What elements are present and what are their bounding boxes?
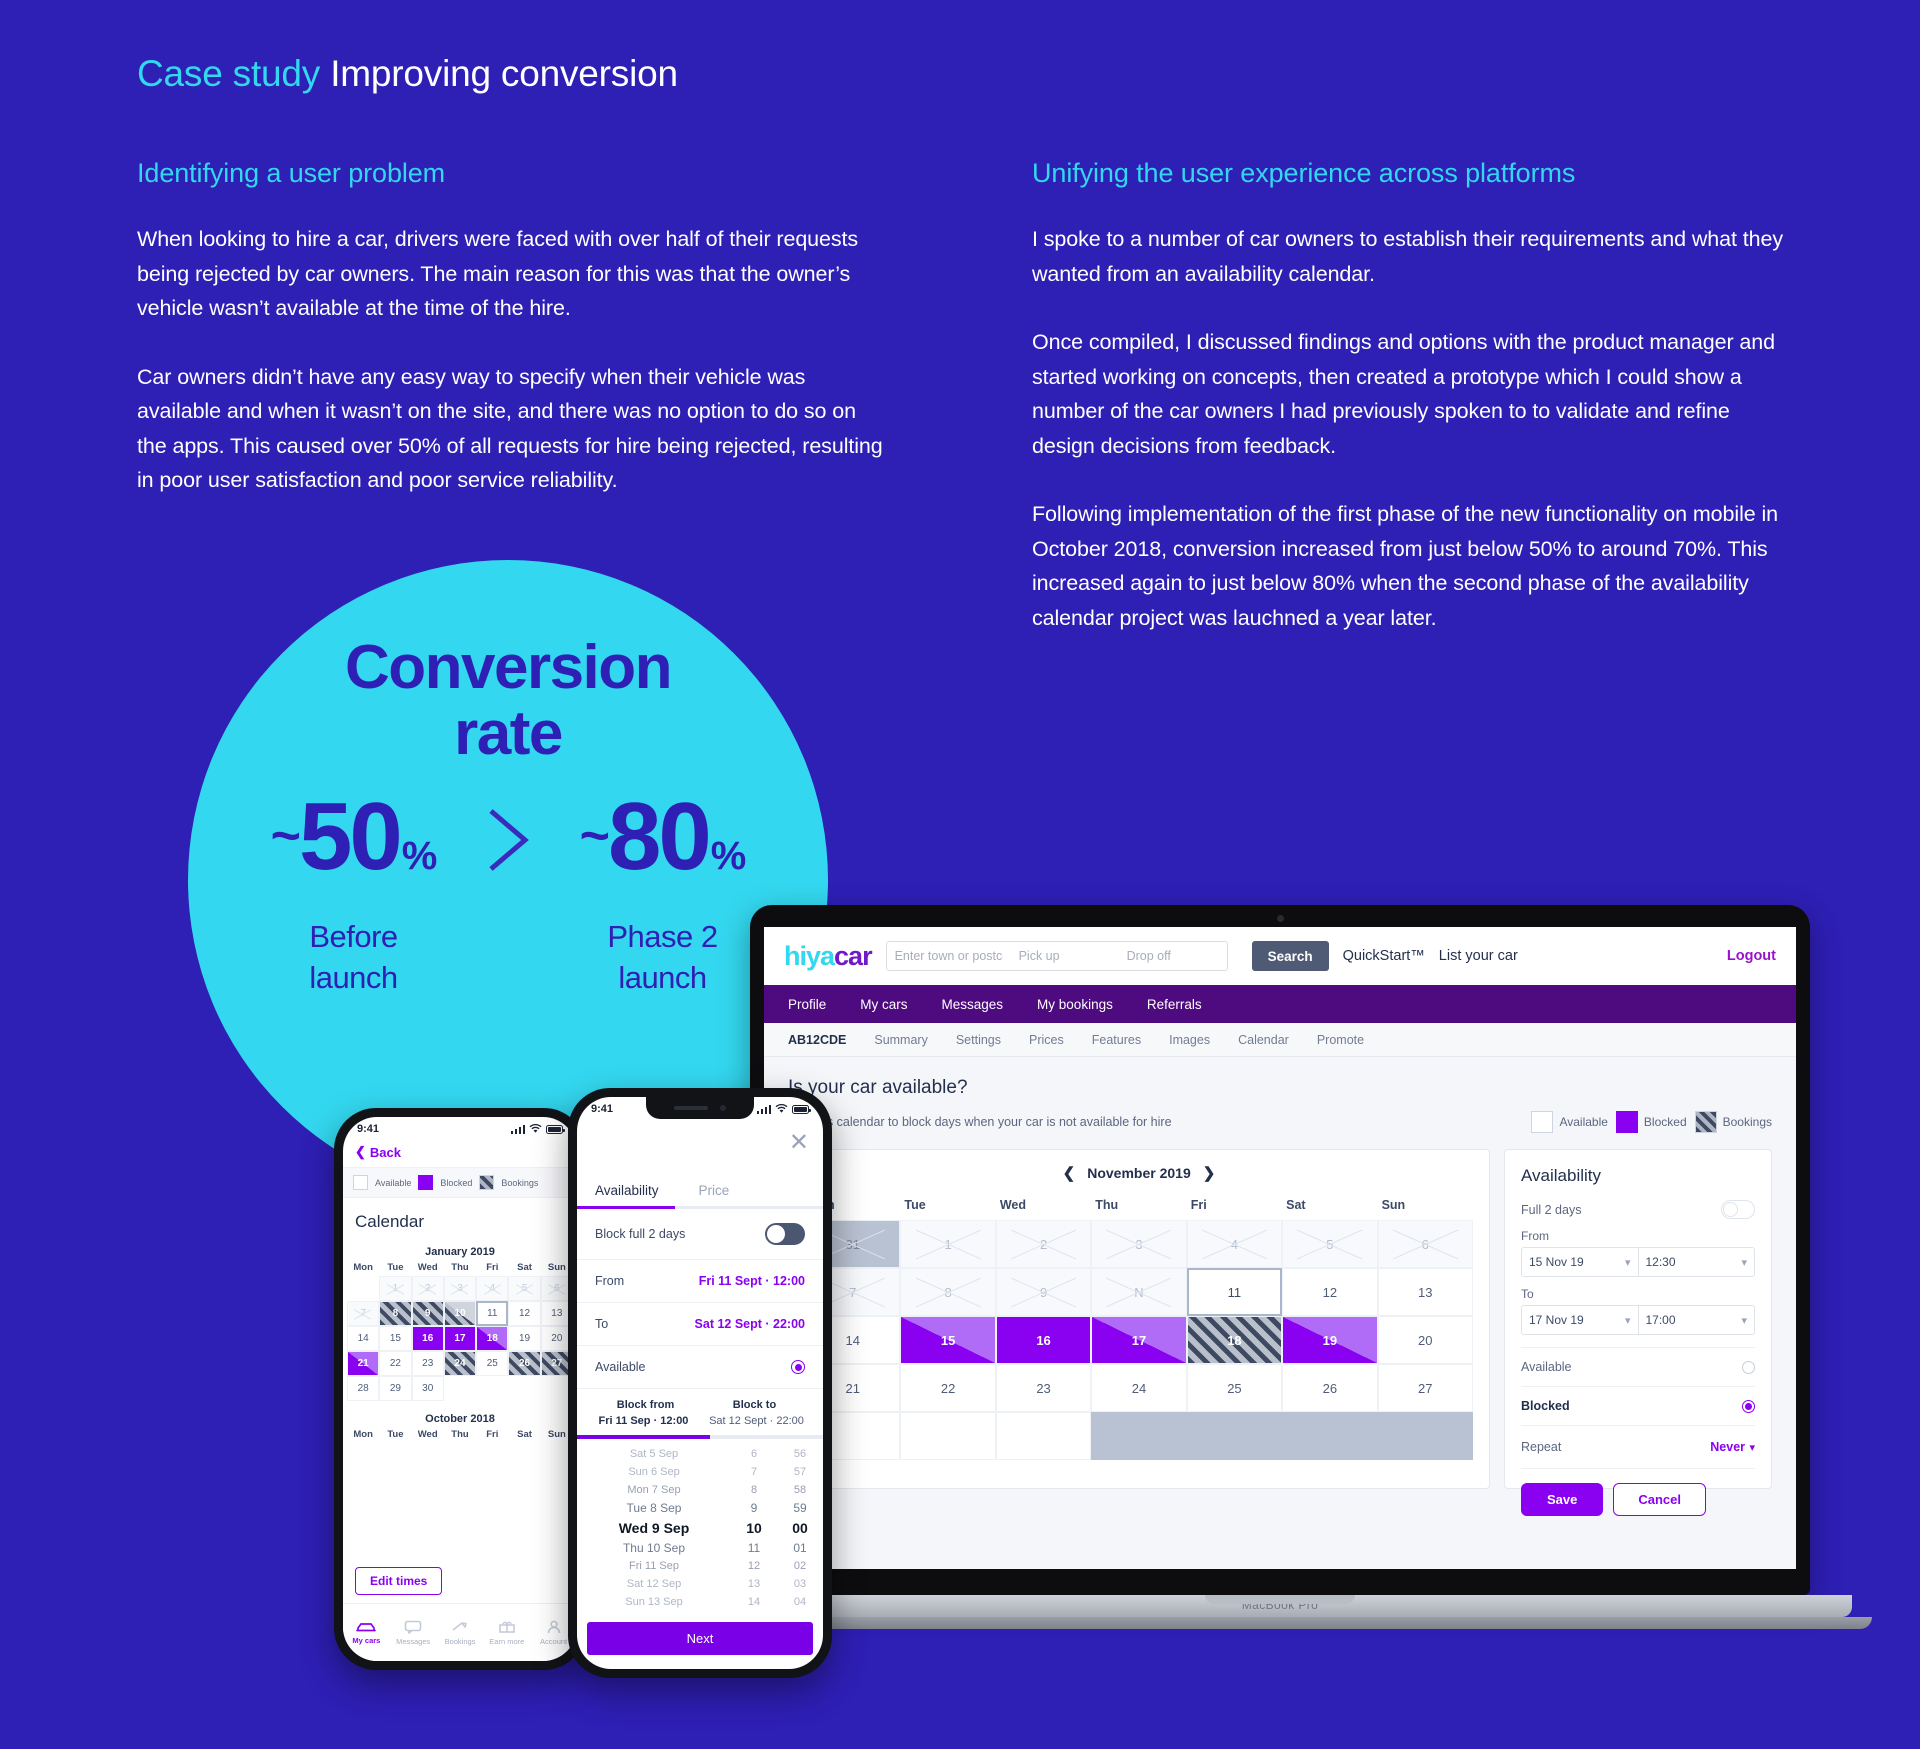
picker-hour-item[interactable]: 7 [731,1463,777,1481]
full-days-label: Full 2 days [1521,1203,1581,1217]
blocked-option-label: Blocked [1521,1399,1570,1413]
calendar-day-cell[interactable]: 5 [1282,1220,1377,1268]
picker-hour-item[interactable]: 6 [731,1445,777,1463]
legend-available-label: Available [375,1178,411,1188]
close-icon[interactable]: ✕ [789,1131,809,1155]
battery-icon [792,1105,809,1114]
stat-after-number: ~80% [580,789,746,904]
legend-bookings-swatch [1695,1111,1717,1133]
picker-minute-item[interactable]: 02 [777,1557,823,1575]
nav-item-referrals[interactable]: Referrals [1147,997,1202,1012]
phone-month-label: January 2019 [343,1240,577,1262]
car-registration: AB12CDE [788,1033,846,1047]
calendar-day-cell[interactable] [1187,1412,1282,1460]
stat-before-percent: % [402,808,437,904]
search-pickup-input[interactable] [1011,942,1119,970]
available-row[interactable]: Available [577,1346,823,1389]
chevron-right-icon[interactable]: ❯ [1203,1164,1216,1182]
block-full-days-row: Block full 2 days [577,1209,823,1260]
right-paragraph-3: Following implementation of the first ph… [1032,497,1792,635]
dow2-tue: Tue [379,1429,411,1440]
repeat-value-group[interactable]: Never ▾ [1710,1438,1755,1456]
picker-minute-item[interactable]: 04 [777,1593,823,1611]
picker-date-item[interactable]: Thu 10 Sep [577,1539,731,1557]
stat-after-label-line2: launch [607,957,717,998]
sheet-tabs: Availability Price [577,1121,823,1206]
available-radio[interactable] [791,1360,805,1374]
page-title-eyebrow: Case study [137,53,320,94]
chevron-down-icon: ▾ [1741,1256,1747,1269]
stat-before-value: 50 [299,789,400,885]
available-option-label: Available [1521,1360,1572,1374]
phone-page-title: Calendar [343,1198,577,1240]
status-bar: 9:41 [577,1097,823,1121]
progress-arrow [471,789,545,875]
macbook-screen: hiyacar Search QuickStart™ List your car… [764,927,1796,1569]
from-selects: 15 Nov 19 ▾ 12:30 ▾ [1521,1247,1755,1277]
calendar-day-cell[interactable]: 4 [1187,1220,1282,1268]
page-heading: Is your car available? [788,1077,1772,1099]
hiyacar-topbar: hiyacar Search QuickStart™ List your car… [764,927,1796,985]
phone-calendar-day-cell[interactable]: 2 [412,1276,444,1301]
picker-minute-item[interactable]: 56 [777,1445,823,1463]
dow2-wed: Wed [412,1429,444,1440]
phone-calendar-day-cell[interactable]: 29 [379,1376,411,1401]
phone-calendar-day-cell[interactable]: 19 [508,1326,540,1351]
picker-minute-column[interactable]: 565758590001020304 [777,1445,823,1611]
conversion-rate-title: Conversion rate [345,635,671,767]
to-selects: 17 Nov 19 ▾ 17:00 ▾ [1521,1305,1755,1335]
calendar-header: ❮ November 2019 ❯ [805,1164,1473,1182]
full-days-row: Full 2 days [1521,1200,1755,1219]
repeat-row[interactable]: Repeat Never ▾ [1521,1438,1755,1456]
block-range-header: Block from Block to [577,1389,823,1415]
nav-item-messages[interactable]: Messages [942,997,1004,1012]
picker-hour-item[interactable]: 8 [731,1481,777,1499]
calendar-panels: ❮ November 2019 ❯ Mon Tue Wed Thu Fri Sa… [788,1149,1772,1489]
right-column-heading: Unifying the user experience across plat… [1032,158,1575,189]
phone-calendar-day-cell[interactable]: 16 [412,1326,444,1351]
stat-before-label: Before launch [309,916,397,998]
calendar-day-cell[interactable]: 3 [1091,1220,1186,1268]
tab-messages[interactable]: Messages [390,1604,437,1661]
blocked-option-row[interactable]: Blocked [1521,1399,1755,1413]
divider [1521,1425,1755,1426]
picker-date-item[interactable]: Sun 6 Sep [577,1463,731,1481]
phone-month2-label: October 2018 [343,1407,577,1429]
save-button[interactable]: Save [1521,1483,1603,1516]
block-range-values: Fri 11 Sep · 12:00 Sat 12 Sept · 22:00 [577,1415,823,1435]
repeat-value: Never [1710,1440,1745,1454]
calendar-day-cell[interactable]: 9 [996,1268,1091,1316]
phone-screen: 9:41 ❮ Back [343,1117,577,1661]
toggle-knob [767,1225,785,1243]
tab-my-cars-label: My cars [352,1636,380,1645]
battery-icon [546,1125,563,1134]
chevron-down-icon: ▾ [1749,1442,1755,1454]
dow2-sat: Sat [508,1429,540,1440]
block-full-days-label: Block full 2 days [595,1227,685,1241]
picker-hour-column[interactable]: 67891011121314 [731,1445,777,1611]
phone-tab-bar: My cars Messages Bookings [343,1603,577,1661]
right-column-body: I spoke to a number of car owners to est… [1032,222,1792,635]
tab-price[interactable]: Price [699,1183,730,1206]
from-date-select[interactable]: 15 Nov 19 ▾ [1522,1248,1638,1276]
calendar-weekday-row: Mon Tue Wed Thu Fri Sat Sun [805,1198,1473,1212]
stat-before-tilde: ~ [271,788,298,884]
dow-thu: Thu [444,1262,476,1273]
calendar-day-cell[interactable]: 26 [1282,1364,1377,1412]
case-study-page: Case study Improving conversion Identify… [0,0,1920,1749]
nav-link-quickstart[interactable]: QuickStart™ [1343,948,1425,964]
legend-available-swatch [1531,1111,1553,1133]
phone-calendar-day-cell[interactable]: 18 [476,1326,508,1351]
availability-panel: Availability Full 2 days From 15 Nov 19 … [1504,1149,1772,1489]
subnav-features[interactable]: Features [1092,1033,1141,1047]
subnav-images[interactable]: Images [1169,1033,1210,1047]
subheading-row: Use this calendar to block days when you… [788,1111,1772,1133]
dow-wed: Wed [996,1198,1091,1212]
picker-minute-item[interactable]: 58 [777,1481,823,1499]
macbook-mockup: hiyacar Search QuickStart™ List your car… [750,905,1810,1650]
search-town-input[interactable] [887,942,1011,970]
picker-minute-item[interactable]: 00 [777,1517,823,1539]
calendar-day-cell[interactable]: 2 [996,1220,1091,1268]
calendar-day-cell[interactable]: 27 [1378,1364,1473,1412]
legend-blocked-label: Blocked [440,1178,472,1188]
calendar-day-cell[interactable]: 18 [1187,1316,1282,1364]
legend-bookings: Bookings [1695,1111,1772,1133]
status-icons [511,1124,563,1134]
primary-nav: Profile My cars Messages My bookings Ref… [764,985,1796,1023]
status-time: 9:41 [591,1103,613,1115]
picker-date-item[interactable]: Sun 13 Sep [577,1593,731,1611]
legend-blocked: Blocked [1616,1111,1687,1133]
phone-calendar-day-cell[interactable]: 8 [379,1301,411,1326]
calendar-day-cell[interactable] [1091,1412,1186,1460]
phone-calendar-day-cell[interactable]: 17 [444,1326,476,1351]
chevron-right-icon [481,805,535,875]
block-full-days-toggle[interactable] [765,1223,805,1245]
phone-calendar-day-cell[interactable]: 12 [508,1301,540,1326]
dow2-thu: Thu [444,1429,476,1440]
phone-calendar-day-cell[interactable]: 1 [379,1276,411,1301]
car-icon [355,1621,377,1633]
tab-account-label: Account [540,1637,567,1646]
stat-before: ~50% Before launch [236,789,471,998]
phone-weekday-row: Mon Tue Wed Thu Fri Sat Sun [343,1262,577,1273]
from-label: From [1521,1229,1755,1243]
edit-times-button[interactable]: Edit times [355,1567,442,1595]
back-label: Back [370,1145,401,1160]
calendar-day-cell[interactable]: 8 [900,1268,995,1316]
block-from-label: Block from [591,1399,700,1411]
back-button[interactable]: ❮ Back [343,1141,577,1167]
picker-hour-item[interactable]: 9 [731,1499,777,1517]
legend-bookings-swatch [479,1175,494,1190]
phone-calendar-day-cell[interactable]: 25 [476,1351,508,1376]
divider [1521,1386,1755,1387]
next-button[interactable]: Next [587,1622,813,1655]
tab-earn-more-label: Earn more [489,1637,524,1646]
stat-before-label-line1: Before [309,916,397,957]
calendar-day-cell[interactable]: 23 [996,1364,1091,1412]
chevron-left-icon: ❮ [355,1144,366,1160]
phone-calendar-day-cell[interactable]: 4 [476,1276,508,1301]
legend-available-label: Available [1559,1115,1607,1129]
subnav-calendar[interactable]: Calendar [1238,1033,1289,1047]
dow-mon: Mon [347,1262,379,1273]
calendar-day-cell[interactable] [1378,1412,1473,1460]
picker-date-item[interactable]: Mon 7 Sep [577,1481,731,1499]
macbook-notch [1205,1595,1355,1604]
calendar-legend: Available Blocked Bookings [1531,1111,1772,1133]
picker-hour-item[interactable]: 12 [731,1557,777,1575]
to-label: To [1521,1287,1755,1301]
stat-after: ~80% Phase 2 launch [545,789,780,998]
from-time-value: 12:30 [1646,1255,1676,1269]
phone-calendar-legend: Available Blocked Bookings [343,1167,577,1198]
from-label: From [595,1274,624,1288]
right-paragraph-1: I spoke to a number of car owners to est… [1032,222,1792,291]
phone-shell: 9:41 ✕ Availability Price [568,1088,832,1678]
dow2-mon: Mon [347,1429,379,1440]
block-to-value: Sat 12 Sept · 22:00 [700,1415,813,1427]
phone-calendar-day-cell[interactable]: 24 [444,1351,476,1376]
left-column-body: When looking to hire a car, drivers were… [137,222,885,498]
conversion-title-line1: Conversion [345,635,671,701]
tab-earn-more[interactable]: Earn more [483,1604,530,1661]
block-to-label: Block to [700,1399,809,1411]
to-time-select[interactable]: 17:00 ▾ [1638,1306,1755,1334]
divider [1521,1468,1755,1469]
block-from-value: Fri 11 Sep · 12:00 [587,1415,700,1427]
dow2-fri: Fri [476,1429,508,1440]
phone-calendar-day-cell[interactable] [476,1376,508,1401]
nav-item-profile[interactable]: Profile [788,997,826,1012]
calendar-day-cell[interactable]: 11 [1187,1268,1282,1316]
picker-hour-item[interactable]: 11 [731,1539,777,1557]
status-bar: 9:41 [343,1117,577,1141]
subnav-promote[interactable]: Promote [1317,1033,1364,1047]
calendar-day-cell[interactable] [900,1412,995,1460]
datetime-picker[interactable]: Sat 5 SepSun 6 SepMon 7 SepTue 8 SepWed … [577,1439,823,1611]
dow-sun: Sun [1378,1198,1473,1212]
to-date-value: 17 Nov 19 [1529,1313,1584,1327]
phone-calendar-day-cell[interactable] [347,1276,379,1301]
phone-calendar-day-cell[interactable]: 9 [412,1301,444,1326]
legend-available: Available [1531,1111,1607,1133]
wifi-icon [775,1104,788,1114]
search-button[interactable]: Search [1252,941,1329,971]
logo-hiya: hiya [784,941,834,971]
key-icon [451,1620,469,1634]
legend-blocked-swatch [1616,1111,1638,1133]
calendar-day-cell[interactable]: 22 [900,1364,995,1412]
availability-actions: Save Cancel [1521,1483,1755,1516]
to-value: Sat 12 Sept · 22:00 [695,1317,805,1331]
to-label: To [595,1317,608,1331]
legend-available-swatch [353,1175,368,1190]
picker-hour-item[interactable]: 13 [731,1575,777,1593]
search-group[interactable] [886,941,1228,971]
calendar-day-cell[interactable]: 19 [1282,1316,1377,1364]
stat-after-label: Phase 2 launch [607,916,717,998]
logout-link[interactable]: Logout [1727,948,1776,964]
calendar-day-cell[interactable]: 24 [1091,1364,1186,1412]
nav-item-my-bookings[interactable]: My bookings [1037,997,1113,1012]
macbook-foot [688,1617,1872,1629]
from-time-select[interactable]: 12:30 ▾ [1638,1248,1755,1276]
calendar-page-body: Is your car available? Use this calendar… [764,1057,1796,1569]
phone-mockup-calendar: 9:41 ❮ Back [334,1108,586,1670]
phone-calendar-day-cell[interactable]: 30 [412,1376,444,1401]
to-row[interactable]: To Sat 12 Sept · 22:00 [577,1303,823,1346]
logo-car: car [834,941,872,971]
available-radio[interactable] [1742,1361,1755,1374]
stat-after-tilde: ~ [580,788,607,884]
calendar-day-cell[interactable]: 17 [1091,1316,1186,1364]
phone-calendar-day-cell[interactable]: 28 [347,1376,379,1401]
from-date-value: 15 Nov 19 [1529,1255,1584,1269]
picker-date-item[interactable]: Fri 11 Sep [577,1557,731,1575]
left-column-heading: Identifying a user problem [137,158,445,189]
calendar-day-cell[interactable] [1282,1412,1377,1460]
conversion-stats: ~50% Before launch ~80% Phase 2 launch [188,789,828,998]
picker-hour-item[interactable]: 10 [731,1517,777,1539]
phone-calendar-day-cell[interactable]: 5 [508,1276,540,1301]
nav-link-list-your-car[interactable]: List your car [1439,948,1518,964]
phone-calendar-day-cell[interactable]: 7 [347,1301,379,1326]
right-paragraph-2: Once compiled, I discussed findings and … [1032,325,1792,463]
wifi-icon [529,1124,542,1134]
from-row[interactable]: From Fri 11 Sept · 12:00 [577,1260,823,1303]
chevron-down-icon: ▾ [1625,1314,1631,1327]
dow-tue: Tue [900,1198,995,1212]
stat-before-label-line2: launch [309,957,397,998]
stat-after-percent: % [711,808,746,904]
phone-calendar-day-cell[interactable] [444,1376,476,1401]
tab-bookings[interactable]: Bookings [437,1604,484,1661]
dow-sat: Sat [1282,1198,1377,1212]
cancel-button[interactable]: Cancel [1613,1483,1706,1516]
status-icons [757,1104,809,1114]
dow-fri: Fri [1187,1198,1282,1212]
calendar-day-cell[interactable]: 13 [1378,1268,1473,1316]
phone-calendar-day-cell[interactable]: 26 [508,1351,540,1376]
phone-calendar-day-cell[interactable]: 3 [444,1276,476,1301]
calendar-day-cell[interactable]: 16 [996,1316,1091,1364]
calendar-day-cell[interactable]: 12 [1282,1268,1377,1316]
webcam-icon [1277,915,1284,922]
picker-date-column[interactable]: Sat 5 SepSun 6 SepMon 7 SepTue 8 SepWed … [577,1445,731,1611]
chevron-left-icon[interactable]: ❮ [1063,1164,1076,1182]
repeat-label: Repeat [1521,1440,1561,1454]
calendar-day-cell[interactable]: 20 [1378,1316,1473,1364]
stat-before-number: ~50% [271,789,437,904]
availability-title: Availability [1521,1166,1755,1186]
calendar-day-cell[interactable]: N [1091,1268,1186,1316]
subnav-summary[interactable]: Summary [874,1033,927,1047]
tab-bookings-label: Bookings [445,1637,476,1646]
legend-bookings-label: Bookings [501,1178,538,1188]
chat-icon [404,1620,422,1634]
from-value: Fri 11 Sept · 12:00 [699,1274,805,1288]
picker-date-item[interactable]: Sat 12 Sep [577,1575,731,1593]
available-option-row[interactable]: Available [1521,1360,1755,1374]
tab-availability[interactable]: Availability [595,1183,659,1206]
dow-tue: Tue [379,1262,411,1273]
left-paragraph-2: Car owners didn’t have any easy way to s… [137,360,885,498]
legend-bookings-label: Bookings [1723,1115,1772,1129]
picker-date-item[interactable]: Wed 9 Sep [577,1517,731,1539]
phone-calendar-day-cell[interactable]: 23 [412,1351,444,1376]
dow-wed: Wed [412,1262,444,1273]
phone-calendar-day-cell[interactable]: 22 [379,1351,411,1376]
chevron-down-icon: ▾ [1625,1256,1631,1269]
picker-minute-item[interactable]: 01 [777,1539,823,1557]
phone-calendar-day-cell[interactable]: 11 [476,1301,508,1326]
calendar-day-cell[interactable]: 15 [900,1316,995,1364]
signal-icon [511,1125,525,1134]
calendar-day-cell[interactable]: 6 [1378,1220,1473,1268]
signal-icon [757,1105,771,1114]
phone-calendar-day-cell[interactable]: 10 [444,1301,476,1326]
subnav-settings[interactable]: Settings [956,1033,1001,1047]
month-calendar: ❮ November 2019 ❯ Mon Tue Wed Thu Fri Sa… [788,1149,1490,1489]
toggle-knob [1723,1202,1738,1217]
to-date-select[interactable]: 17 Nov 19 ▾ [1522,1306,1638,1334]
left-paragraph-1: When looking to hire a car, drivers were… [137,222,885,326]
picker-date-item[interactable]: Sat 5 Sep [577,1445,731,1463]
picker-minute-item[interactable]: 03 [777,1575,823,1593]
phone-calendar-day-cell[interactable]: 14 [347,1326,379,1351]
page-title: Case study Improving conversion [137,53,678,95]
calendar-day-cell[interactable] [996,1412,1091,1460]
to-time-value: 17:00 [1646,1313,1676,1327]
calendar-day-cell[interactable]: 25 [1187,1364,1282,1412]
nav-item-my-cars[interactable]: My cars [860,997,907,1012]
picker-minute-item[interactable]: 59 [777,1499,823,1517]
dow-fri: Fri [476,1262,508,1273]
phone-calendar-day-cell[interactable]: 21 [347,1351,379,1376]
calendar-day-cell[interactable]: 1 [900,1220,995,1268]
phone-shell: 9:41 ❮ Back [334,1108,586,1670]
phone-calendar-day-cell[interactable]: 15 [379,1326,411,1351]
picker-minute-item[interactable]: 57 [777,1463,823,1481]
phone-calendar-grid[interactable]: 1234567891011121314151617181920212223242… [343,1273,577,1401]
phone-calendar-day-cell[interactable] [508,1376,540,1401]
full-days-toggle[interactable] [1721,1200,1755,1219]
search-dropoff-input[interactable] [1119,942,1227,970]
phone-mockup-availability: 9:41 ✕ Availability Price [568,1088,832,1678]
tab-underline [577,1206,823,1209]
picker-hour-item[interactable]: 14 [731,1593,777,1611]
tab-my-cars[interactable]: My cars [343,1604,390,1661]
picker-date-item[interactable]: Tue 8 Sep [577,1499,731,1517]
tab-messages-label: Messages [396,1637,430,1646]
dow-sat: Sat [508,1262,540,1273]
hiyacar-logo[interactable]: hiyacar [784,941,872,972]
calendar-month-label: November 2019 [1087,1165,1191,1181]
legend-blocked-label: Blocked [1644,1115,1687,1129]
available-label: Available [595,1360,646,1374]
subnav-prices[interactable]: Prices [1029,1033,1064,1047]
page-title-main: Improving conversion [330,53,678,94]
blocked-radio[interactable] [1742,1400,1755,1413]
calendar-day-grid[interactable]: 31123456789N1112131415161718192021222324… [805,1220,1473,1460]
stat-after-label-line1: Phase 2 [607,916,717,957]
